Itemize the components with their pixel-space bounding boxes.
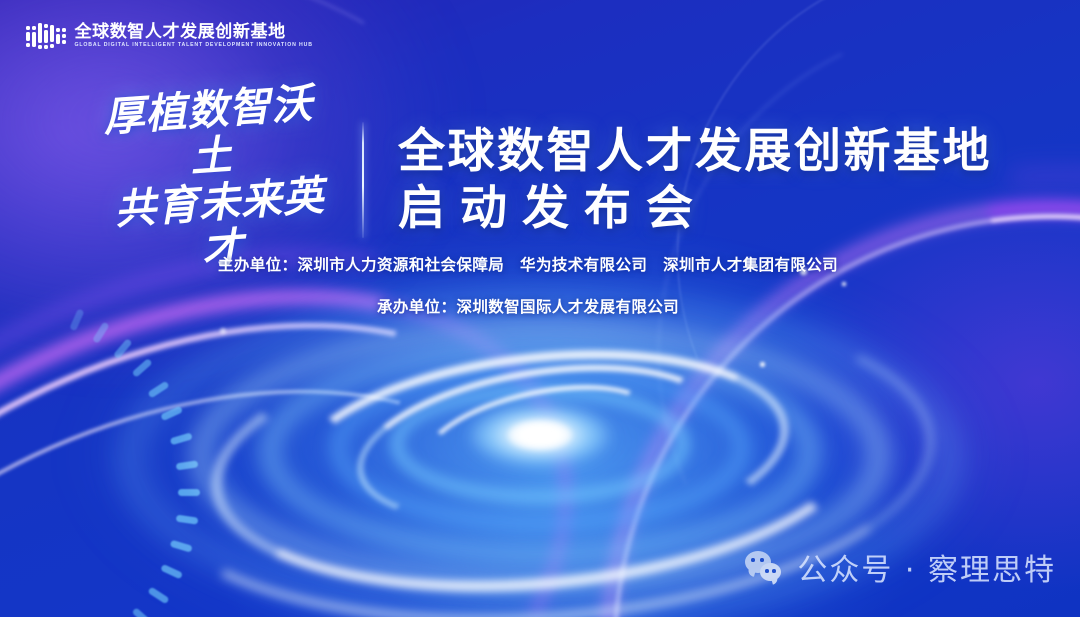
wechat-icon xyxy=(745,551,785,583)
site-logo[interactable]: 全球数智人才发展创新基地 GLOBAL DIGITAL INTELLIGENT … xyxy=(26,24,313,48)
event-title-line-1: 全球数智人才发展创新基地 xyxy=(398,127,992,176)
event-title: 全球数智人才发展创新基地 启动发布会 xyxy=(398,127,992,234)
logo-title-cn: 全球数智人才发展创新基地 xyxy=(75,24,313,41)
watermark-text: 公众号 · 察理思特 xyxy=(797,545,1056,589)
host-organizations: 主办单位：深圳市人力资源和社会保障局 华为技术有限公司 深圳市人才集团有限公司 xyxy=(0,253,1080,275)
hero-block: 厚植数智沃土 共育未来英才 全球数智人才发展创新基地 启动发布会 xyxy=(0,88,1080,273)
event-poster: 全球数智人才发展创新基地 GLOBAL DIGITAL INTELLIGENT … xyxy=(0,0,1080,617)
cohost-organizations: 承办单位：深圳数智国际人才发展有限公司 xyxy=(0,295,1080,317)
vertical-divider xyxy=(362,122,364,238)
event-title-line-2: 启动发布会 xyxy=(398,184,992,233)
logo-title-en: GLOBAL DIGITAL INTELLIGENT TALENT DEVELO… xyxy=(75,43,313,48)
calligraphy-slogan: 厚植数智沃土 共育未来英才 xyxy=(82,80,344,282)
wechat-watermark: 公众号 · 察理思特 xyxy=(745,545,1056,589)
equalizer-bars-logo-icon xyxy=(26,24,66,48)
